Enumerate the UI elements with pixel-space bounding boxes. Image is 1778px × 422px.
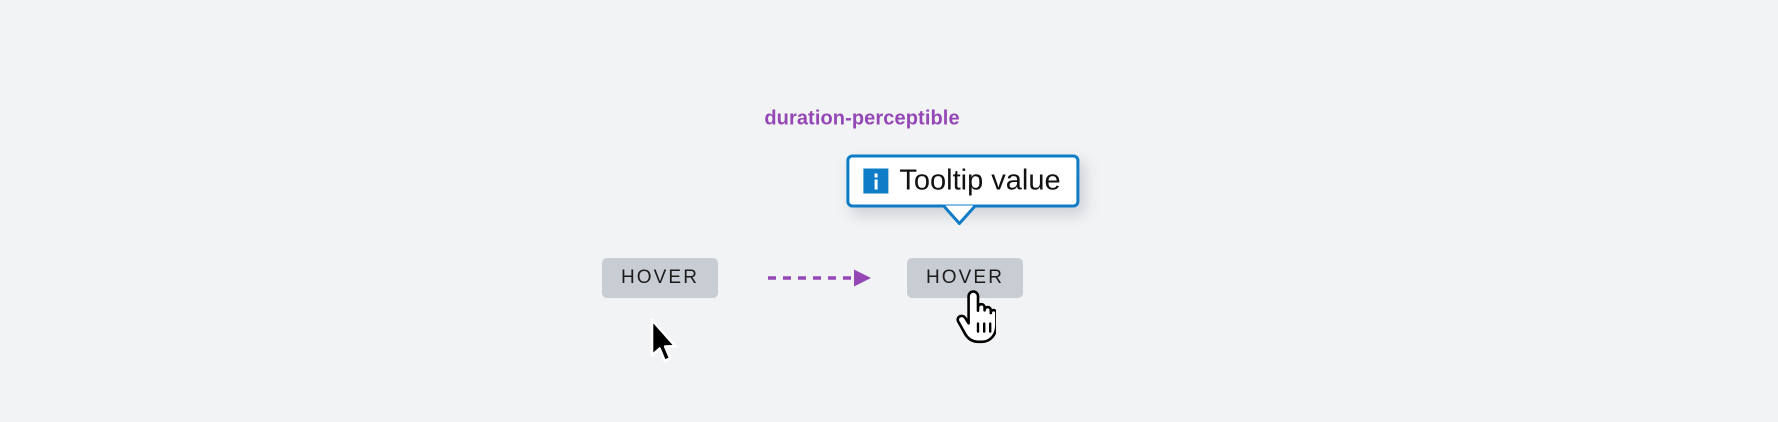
annotation-label-duration-perceptible: duration-perceptible <box>764 108 959 131</box>
info-icon <box>863 169 888 194</box>
transition-arrow-icon <box>768 264 878 292</box>
hand-cursor-icon <box>954 290 996 344</box>
arrow-cursor-icon <box>648 318 682 366</box>
tooltip-text: Tooltip value <box>899 167 1060 196</box>
tooltip-tail-icon <box>942 205 976 227</box>
tooltip: Tooltip value <box>846 155 1079 208</box>
illustration-canvas: duration-perceptible Tooltip value HOVER… <box>0 0 1778 422</box>
hover-button-before[interactable]: HOVER <box>602 258 718 298</box>
tooltip-box: Tooltip value <box>846 155 1079 208</box>
